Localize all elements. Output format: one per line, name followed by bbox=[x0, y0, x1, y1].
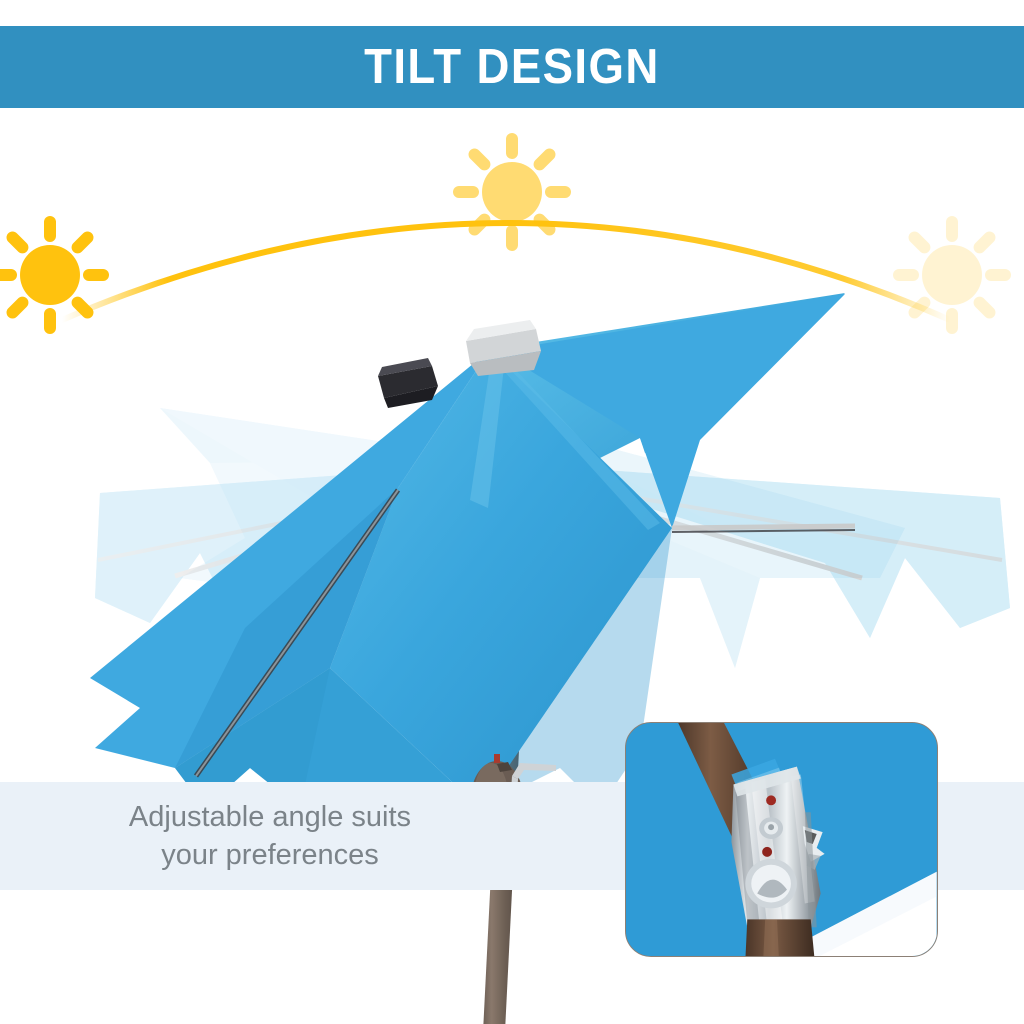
product-feature-image: Adjustable angle suits your preferences bbox=[0, 0, 1024, 1024]
page-title: TILT DESIGN bbox=[364, 43, 660, 92]
tilt-mechanism-photo bbox=[626, 723, 937, 956]
inset-pin-upper bbox=[766, 795, 776, 805]
crank-marker bbox=[494, 754, 500, 763]
caption-line-1: Adjustable angle suits bbox=[60, 798, 480, 836]
caption-text: Adjustable angle suits your preferences bbox=[60, 798, 480, 875]
sun-left-icon bbox=[0, 210, 115, 340]
caption-line-2: your preferences bbox=[60, 836, 480, 874]
solar-led-fitting bbox=[378, 358, 438, 408]
canopy-rib-right bbox=[672, 526, 855, 528]
sun-right-icon bbox=[887, 210, 1017, 340]
inset-pin-lower bbox=[762, 847, 772, 857]
header-banner: TILT DESIGN bbox=[0, 26, 1024, 108]
tilt-mechanism-detail-card bbox=[625, 722, 938, 957]
inset-lower-pole bbox=[745, 919, 814, 956]
umbrella-finial bbox=[466, 320, 541, 376]
sun-middle-icon bbox=[447, 127, 577, 257]
